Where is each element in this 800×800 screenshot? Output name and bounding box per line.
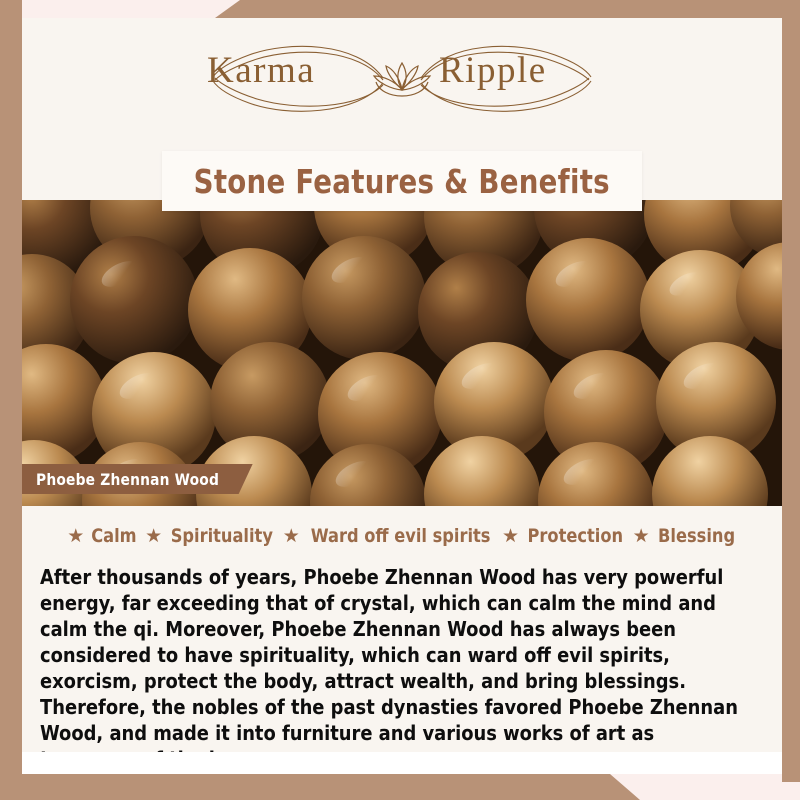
decor-band-bottom [0, 774, 640, 800]
brand-logo: Karma Ripple [22, 18, 782, 138]
keyword-label: Calm [92, 525, 137, 547]
section-title-banner: Stone Features & Benefits [162, 151, 642, 211]
keyword-label: Spirituality [171, 525, 273, 547]
keyword-item-calm: ★ Calm [67, 525, 138, 547]
star-icon: ★ [145, 527, 162, 546]
keyword-item-blessing: ★ Blessing [633, 525, 737, 547]
benefit-keyword-list: ★ Calm ★ Spirituality ★ Ward off evil sp… [22, 510, 782, 562]
brand-name-left: Karma [207, 49, 315, 92]
content-card: Karma Ripple Stone Features & Benefits [22, 18, 782, 774]
decor-band-right [782, 0, 800, 782]
description-text: After thousands of years, Phoebe Zhennan… [40, 564, 742, 772]
wood-beads-image [22, 200, 782, 506]
keyword-label: Blessing [658, 525, 735, 547]
brand-name-right: Ripple [439, 49, 547, 92]
star-icon: ★ [283, 527, 300, 546]
product-photo: Phoebe Zhennan Wood [22, 200, 782, 506]
description-block: After thousands of years, Phoebe Zhennan… [22, 564, 782, 772]
decor-band-top [215, 0, 800, 18]
keyword-label: Ward off evil spirits [310, 525, 490, 547]
keyword-item-spirituality: ★ Spirituality [145, 525, 276, 547]
keyword-label: Protection [528, 525, 624, 547]
product-info-card: Karma Ripple Stone Features & Benefits [0, 0, 800, 800]
star-icon: ★ [633, 527, 650, 546]
page-title: Stone Features & Benefits [194, 162, 610, 201]
decor-band-left [0, 0, 22, 800]
keyword-item-protection: ★ Protection [502, 525, 626, 547]
photo-caption-text: Phoebe Zhennan Wood [36, 470, 219, 489]
photo-caption-tag: Phoebe Zhennan Wood [22, 464, 253, 494]
star-icon: ★ [502, 527, 519, 546]
star-icon: ★ [67, 527, 84, 546]
keyword-item-ward-off-evil-spirits: ★ Ward off evil spirits [283, 525, 495, 547]
card-footer-spacer [22, 752, 782, 774]
